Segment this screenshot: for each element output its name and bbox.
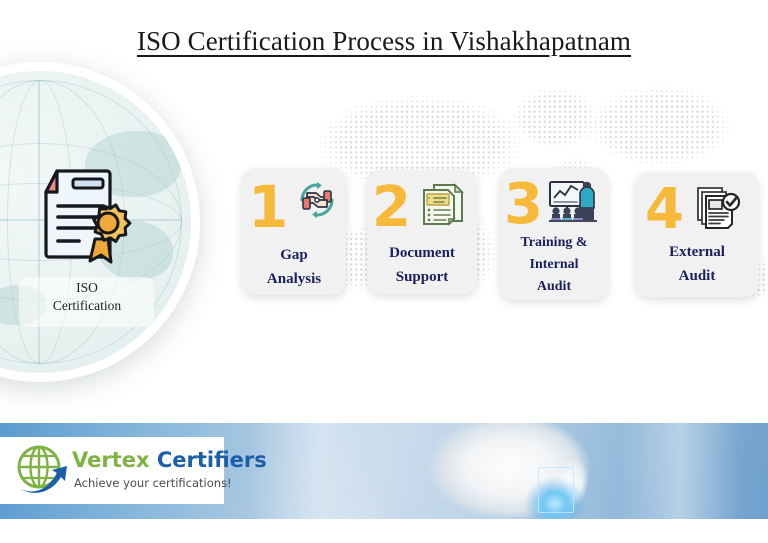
step-label-2-line2: Support bbox=[367, 265, 477, 289]
training-presentation-icon bbox=[547, 178, 599, 226]
hero-circle-globe-background: ISO Certification bbox=[0, 71, 191, 373]
documents-icon bbox=[420, 179, 466, 227]
step-number-2: 2 bbox=[372, 180, 411, 236]
brand-tagline: Achieve your certifications! bbox=[74, 476, 232, 490]
poster-canvas: ISO Certification Process in Vishakhapat… bbox=[0, 0, 768, 543]
iso-badge-line1: ISO bbox=[17, 279, 157, 297]
globe-arrow-logo-icon bbox=[12, 443, 70, 499]
step-label-3: Training & Internal Audit bbox=[500, 232, 608, 298]
iso-badge-text: ISO Certification bbox=[17, 279, 157, 315]
hero-circle: ISO Certification bbox=[0, 62, 200, 382]
step-label-3-line2: Internal bbox=[500, 254, 608, 276]
step-label-4-line1: External bbox=[635, 240, 759, 264]
brand-name-part2: Certifiers bbox=[157, 448, 267, 472]
step-number-3: 3 bbox=[504, 177, 543, 233]
document-stack-check-icon bbox=[694, 182, 742, 232]
handshake-partnership-icon bbox=[293, 176, 341, 224]
step-label-4-line2: Audit bbox=[635, 264, 759, 288]
step-label-1-line1: Gap bbox=[242, 243, 346, 267]
step-number-1: 1 bbox=[248, 178, 288, 236]
brand-name: Vertex Certifiers bbox=[72, 448, 267, 472]
step-label-3-line3: Audit bbox=[500, 276, 608, 298]
brand-name-part1: Vertex bbox=[72, 448, 150, 472]
step-label-1: Gap Analysis bbox=[242, 243, 346, 291]
iso-badge-line2: Certification bbox=[17, 297, 157, 315]
step-label-4: External Audit bbox=[635, 240, 759, 288]
glow-square-outline-icon bbox=[538, 467, 574, 513]
step-label-1-line2: Analysis bbox=[242, 267, 346, 291]
step-label-2: Document Support bbox=[367, 241, 477, 289]
step-number-4: 4 bbox=[645, 182, 684, 238]
page-title: ISO Certification Process in Vishakhapat… bbox=[0, 26, 768, 57]
step-label-2-line1: Document bbox=[367, 241, 477, 265]
step-label-3-line1: Training & bbox=[500, 232, 608, 254]
certificate-with-ribbon-icon bbox=[37, 159, 135, 269]
